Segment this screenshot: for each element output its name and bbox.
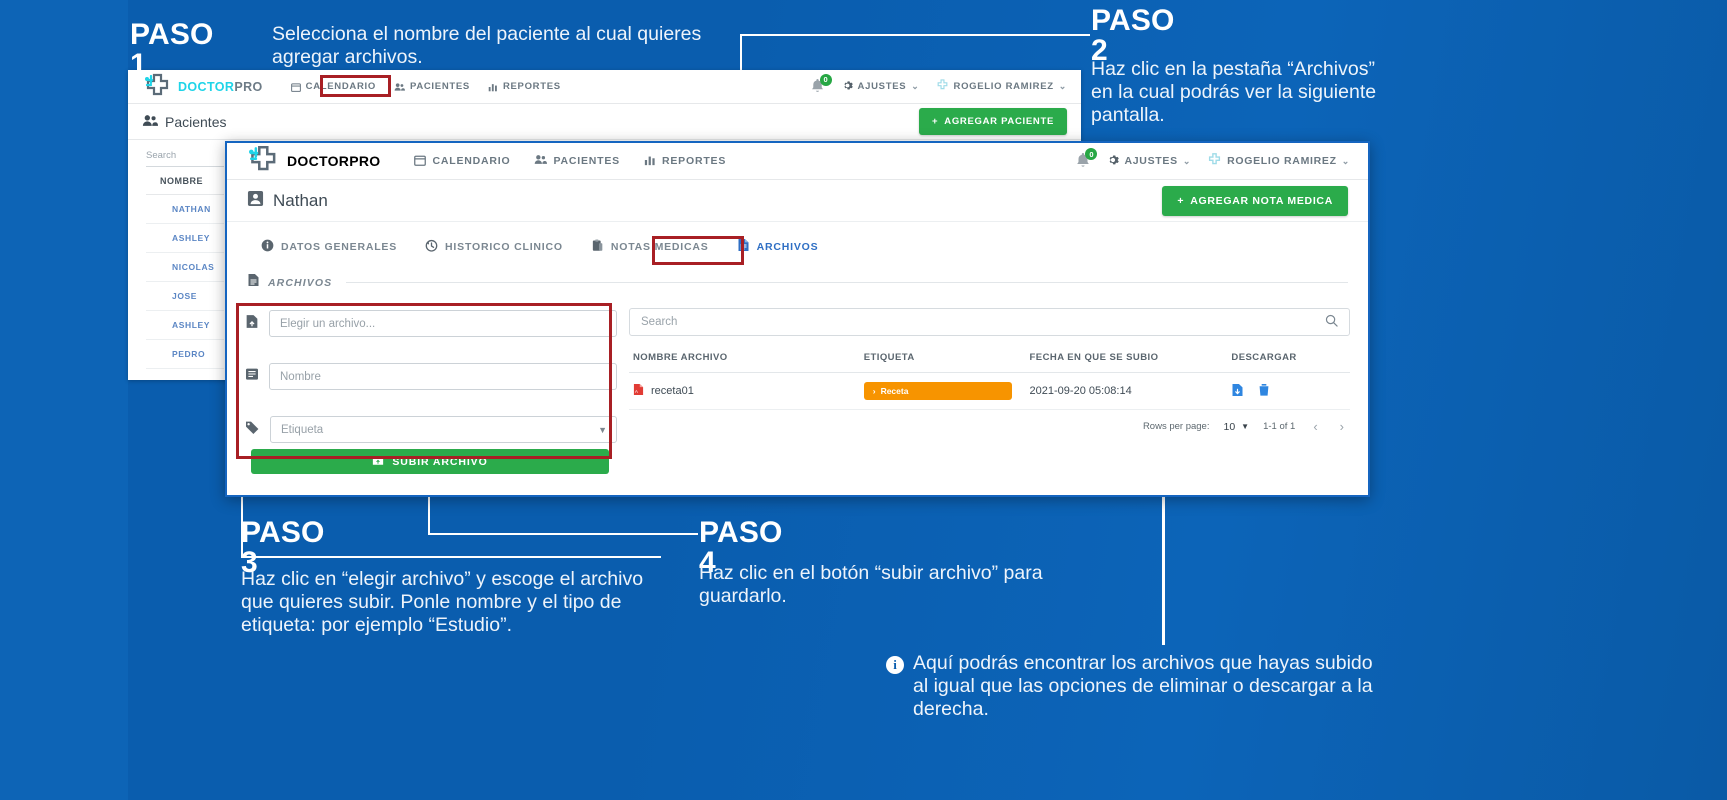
patient-row-jose[interactable]: JOSE	[146, 282, 224, 311]
tab-label: ARCHIVOS	[757, 241, 819, 253]
nav-label: CALENDARIO	[432, 155, 510, 167]
section-divider	[346, 282, 1348, 283]
patient-tabs: DATOS GENERALES HISTORICO CLINICO NOTAS …	[227, 222, 1368, 263]
cell-actions	[1227, 373, 1350, 410]
rows-per-page-label: Rows per page:	[1143, 421, 1210, 432]
chevron-down-icon: ⌄	[1059, 81, 1067, 92]
chevron-down-icon: ⌄	[1342, 156, 1350, 167]
info-note-text: Aquí podrás encontrar los archivos que h…	[913, 652, 1383, 721]
settings-menu[interactable]: AJUSTES ⌄	[842, 80, 920, 94]
paso-2-title: PASO 2	[1091, 6, 1175, 66]
patient-row-nathan[interactable]: NATHAN	[146, 195, 224, 224]
nav-item-calendario[interactable]: CALENDARIO	[291, 81, 376, 92]
chevron-down-icon: ▼	[1241, 422, 1249, 431]
col-nombre-archivo[interactable]: NOMBRE ARCHIVO	[629, 344, 860, 373]
app-logo[interactable]: DOCTORPRO	[245, 145, 380, 177]
chevron-down-icon: ⌄	[1183, 156, 1191, 167]
file-icon	[737, 238, 750, 255]
col-fecha[interactable]: FECHA EN QUE SE SUBIO	[1026, 344, 1228, 373]
patient-row-ashley-2[interactable]: ASHLEY	[146, 311, 224, 340]
user-label: ROGELIO RAMIREZ	[1227, 155, 1337, 167]
user-menu[interactable]: ROGELIO RAMIREZ ⌄	[936, 79, 1067, 94]
paso-1-title: PASO 1	[130, 20, 214, 80]
chevron-down-icon: ▼	[598, 425, 607, 435]
plus-icon: +	[1177, 195, 1184, 207]
add-patient-label: AGREGAR PACIENTE	[944, 116, 1054, 127]
paso-3-body: Haz clic en “elegir archivo” y escoge el…	[241, 568, 671, 637]
folder-upload-icon	[372, 455, 384, 469]
background-nav: CALENDARIO PACIENTES REPORTES	[291, 81, 561, 92]
doctorpro-logo-icon	[245, 145, 285, 177]
pdf-icon: A	[633, 383, 644, 399]
file-input[interactable]: Elegir un archivo...	[269, 310, 617, 337]
paso-1-body: Selecciona el nombre del paciente al cua…	[272, 23, 702, 69]
paso-4-body: Haz clic en el botón “subir archivo” par…	[699, 562, 1119, 608]
files-search-input[interactable]: Search	[629, 308, 1350, 336]
notifications-button[interactable]: 0	[1075, 152, 1091, 170]
download-icon[interactable]	[1231, 383, 1244, 400]
name-row: Nombre	[245, 363, 617, 390]
front-nav: CALENDARIO PACIENTES REPORTES	[414, 154, 726, 169]
nav-label: CALENDARIO	[306, 81, 376, 92]
files-table-panel: Search NOMBRE ARCHIVO ETIQUETA FECHA EN …	[629, 300, 1350, 474]
patient-name-text: Nathan	[273, 191, 328, 211]
pagination-range: 1-1 of 1	[1263, 421, 1295, 432]
nav-label: PACIENTES	[410, 81, 470, 92]
background-topbar: DOCTORPRO CALENDARIO PACIENTES REPORTES …	[128, 70, 1081, 104]
tab-archivos[interactable]: ARCHIVOS	[723, 230, 833, 263]
tab-label: NOTAS MEDICAS	[611, 241, 709, 253]
patient-row-ashley-1[interactable]: ASHLEY	[146, 224, 224, 253]
chevron-down-icon: ⌄	[911, 81, 919, 92]
tab-label: DATOS GENERALES	[281, 241, 397, 253]
nav-label: REPORTES	[503, 81, 561, 92]
tab-datos-generales[interactable]: DATOS GENERALES	[247, 231, 411, 263]
patients-list-header: NOMBRE	[146, 167, 224, 195]
nav-label: PACIENTES	[553, 155, 620, 167]
chevron-right-icon: ›	[873, 386, 876, 396]
user-logo-icon	[936, 79, 949, 94]
clipboard-icon	[591, 239, 604, 255]
tag-select[interactable]: Etiqueta ▼	[270, 416, 617, 443]
file-upload-icon	[245, 314, 259, 334]
user-label: ROGELIO RAMIREZ	[954, 81, 1054, 92]
nav-item-reportes[interactable]: REPORTES	[488, 81, 561, 92]
col-descargar[interactable]: DESCARGAR	[1227, 344, 1350, 373]
rows-per-page-select[interactable]: 10 ▼	[1223, 421, 1249, 433]
paso-2-body: Haz clic en la pestaña “Archivos” en la …	[1091, 58, 1391, 127]
notification-badge: 0	[1085, 148, 1097, 160]
file-icon	[247, 273, 260, 292]
search-icon	[1325, 314, 1338, 330]
tag-icon	[245, 420, 260, 439]
table-row[interactable]: A receta01 › Receta 2021-09-20 05:08:14	[629, 373, 1350, 410]
notification-badge: 0	[820, 74, 832, 86]
logo-text: DOCTORPRO	[178, 80, 263, 94]
foreground-app-window: DOCTORPRO CALENDARIO PACIENTES REPORTES …	[225, 141, 1370, 497]
col-etiqueta[interactable]: ETIQUETA	[860, 344, 1026, 373]
cell-file: A receta01	[629, 373, 860, 410]
nav-label: REPORTES	[662, 155, 726, 167]
bar-chart-icon	[488, 82, 498, 92]
files-search-placeholder: Search	[641, 316, 677, 328]
tag-text: Receta	[881, 386, 909, 396]
history-icon	[425, 239, 438, 255]
leader-line-paso4-horizontal	[428, 533, 698, 535]
upload-form: Elegir un archivo... Nombre Etiqueta ▼ S…	[245, 300, 617, 474]
leader-line-paso2-horizontal	[740, 34, 1090, 36]
table-pagination: Rows per page: 10 ▼ 1-1 of 1 ‹ ›	[629, 410, 1350, 434]
info-icon	[261, 239, 274, 255]
nav-item-reportes[interactable]: REPORTES	[644, 154, 726, 169]
calendar-icon	[414, 154, 426, 169]
settings-label: AJUSTES	[858, 81, 907, 92]
file-row: Elegir un archivo...	[245, 310, 617, 337]
next-page-button[interactable]: ›	[1336, 419, 1348, 434]
cell-date: 2021-09-20 05:08:14	[1026, 373, 1228, 410]
tab-historico-clinico[interactable]: HISTORICO CLINICO	[411, 231, 577, 263]
patient-row-pedro[interactable]: PEDRO	[146, 340, 224, 369]
status-badge: › Receta	[864, 382, 1012, 400]
background-page-header: Pacientes + AGREGAR PACIENTE	[128, 104, 1081, 140]
page-title-text: Pacientes	[165, 114, 226, 130]
gear-icon	[1107, 154, 1119, 169]
file-name-text: receta01	[651, 385, 694, 397]
settings-menu[interactable]: AJUSTES ⌄	[1107, 154, 1191, 169]
upload-file-button[interactable]: SUBIR ARCHIVO	[251, 449, 609, 474]
page-title: Pacientes	[142, 114, 226, 130]
nav-item-calendario[interactable]: CALENDARIO	[414, 154, 510, 169]
tag-row: Etiqueta ▼	[245, 416, 617, 443]
section-label: ARCHIVOS	[268, 277, 332, 289]
logo-text: DOCTORPRO	[287, 153, 380, 169]
patients-search-input[interactable]: Search	[146, 150, 224, 167]
info-icon: i	[886, 656, 904, 674]
user-logo-icon	[1207, 153, 1222, 169]
archivos-body: Elegir un archivo... Nombre Etiqueta ▼ S…	[227, 294, 1368, 474]
patient-row-nicolas[interactable]: NICOLAS	[146, 253, 224, 282]
plus-icon: +	[932, 116, 938, 127]
front-topbar: DOCTORPRO CALENDARIO PACIENTES REPORTES …	[227, 143, 1368, 180]
name-input[interactable]: Nombre	[269, 363, 617, 390]
text-lines-icon	[245, 367, 259, 386]
files-table: NOMBRE ARCHIVO ETIQUETA FECHA EN QUE SE …	[629, 344, 1350, 410]
add-note-label: AGREGAR NOTA MEDICA	[1190, 195, 1333, 207]
front-topbar-right: 0 AJUSTES ⌄ ROGELIO RAMIREZ ⌄	[1075, 152, 1350, 170]
nav-item-pacientes[interactable]: PACIENTES	[394, 81, 470, 92]
people-icon	[394, 82, 405, 92]
calendar-icon	[291, 82, 301, 92]
tab-notas-medicas[interactable]: NOTAS MEDICAS	[577, 231, 723, 263]
notifications-button[interactable]: 0	[810, 78, 826, 96]
user-menu[interactable]: ROGELIO RAMIREZ ⌄	[1207, 153, 1350, 169]
people-icon	[534, 154, 547, 168]
add-patient-button[interactable]: + AGREGAR PACIENTE	[919, 108, 1067, 135]
avatar	[247, 190, 264, 212]
archivos-section-header: ARCHIVOS	[227, 263, 1368, 294]
prev-page-button[interactable]: ‹	[1309, 419, 1321, 434]
tag-select-value: Etiqueta	[281, 424, 323, 436]
annotation-info-note: i Aquí podrás encontrar los archivos que…	[886, 652, 1383, 721]
patient-name-block: Nathan	[247, 190, 328, 212]
settings-label: AJUSTES	[1124, 155, 1177, 167]
rows-per-page-value: 10	[1223, 421, 1235, 433]
patients-list-column: Search NOMBRE NATHAN ASHLEY NICOLAS JOSE…	[128, 140, 228, 369]
upload-button-label: SUBIR ARCHIVO	[392, 456, 487, 468]
people-icon	[142, 114, 158, 130]
add-medical-note-button[interactable]: + AGREGAR NOTA MEDICA	[1162, 186, 1348, 216]
nav-item-pacientes[interactable]: PACIENTES	[534, 154, 620, 168]
tab-label: HISTORICO CLINICO	[445, 241, 563, 253]
cell-tag: › Receta	[860, 373, 1026, 410]
bar-chart-icon	[644, 154, 656, 169]
background-topbar-right: 0 AJUSTES ⌄ ROGELIO RAMIREZ ⌄	[810, 78, 1067, 96]
delete-icon[interactable]	[1258, 383, 1270, 400]
patient-header: Nathan + AGREGAR NOTA MEDICA	[227, 180, 1368, 222]
table-header-row: NOMBRE ARCHIVO ETIQUETA FECHA EN QUE SE …	[629, 344, 1350, 373]
gear-icon	[842, 80, 853, 94]
